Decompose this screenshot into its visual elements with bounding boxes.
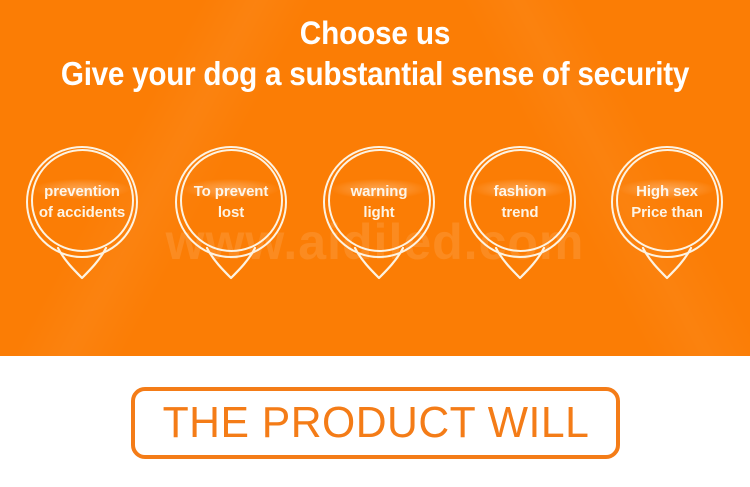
bubble-label-line-1: prevention (44, 181, 120, 202)
the-product-will-button-label: THE PRODUCT WILL (162, 399, 589, 447)
bubble-label-line-2: of accidents (39, 202, 125, 223)
bubble-label-line-1: fashion (494, 181, 547, 202)
feature-bubble-fashion-trend[interactable]: fashion trend (464, 146, 576, 258)
feature-bubble-high-sex-price-than[interactable]: High sex Price than (611, 146, 723, 258)
bubble-label-line-1: High sex (636, 181, 698, 202)
feature-bubble-warning-light[interactable]: warning light (323, 146, 435, 258)
hero-heading-line-1: Choose us (26, 14, 724, 52)
feature-bubble-prevention-of-accidents[interactable]: prevention of accidents (26, 146, 138, 258)
bubble-label-line-1: warning (351, 181, 408, 202)
hero-heading-block: Choose us Give your dog a substantial se… (0, 14, 750, 94)
bubble-label-line-2: trend (501, 202, 538, 223)
hero-heading-line-2: Give your dog a substantial sense of sec… (38, 54, 713, 94)
footer-white-panel: www.aidiled.com THE PRODUCT WILL (0, 356, 750, 487)
bubble-label-line-2: lost (218, 202, 244, 223)
bubble-label-line-2: light (363, 202, 394, 223)
hero-orange-panel: Choose us Give your dog a substantial se… (0, 0, 750, 356)
bubble-label-line-1: To prevent (194, 181, 269, 202)
bubble-label: To prevent lost (179, 146, 283, 258)
the-product-will-button[interactable]: THE PRODUCT WILL (131, 387, 620, 459)
bubble-label: fashion trend (468, 146, 572, 258)
bubble-label: prevention of accidents (30, 146, 134, 258)
bubble-label: High sex Price than (615, 146, 719, 258)
bubble-label-line-2: Price than (631, 202, 703, 223)
bubble-label: warning light (327, 146, 431, 258)
feature-bubble-to-prevent-lost[interactable]: To prevent lost (175, 146, 287, 258)
promo-banner-page: Choose us Give your dog a substantial se… (0, 0, 750, 487)
feature-bubble-row: prevention of accidents To prevent lost (0, 146, 750, 296)
